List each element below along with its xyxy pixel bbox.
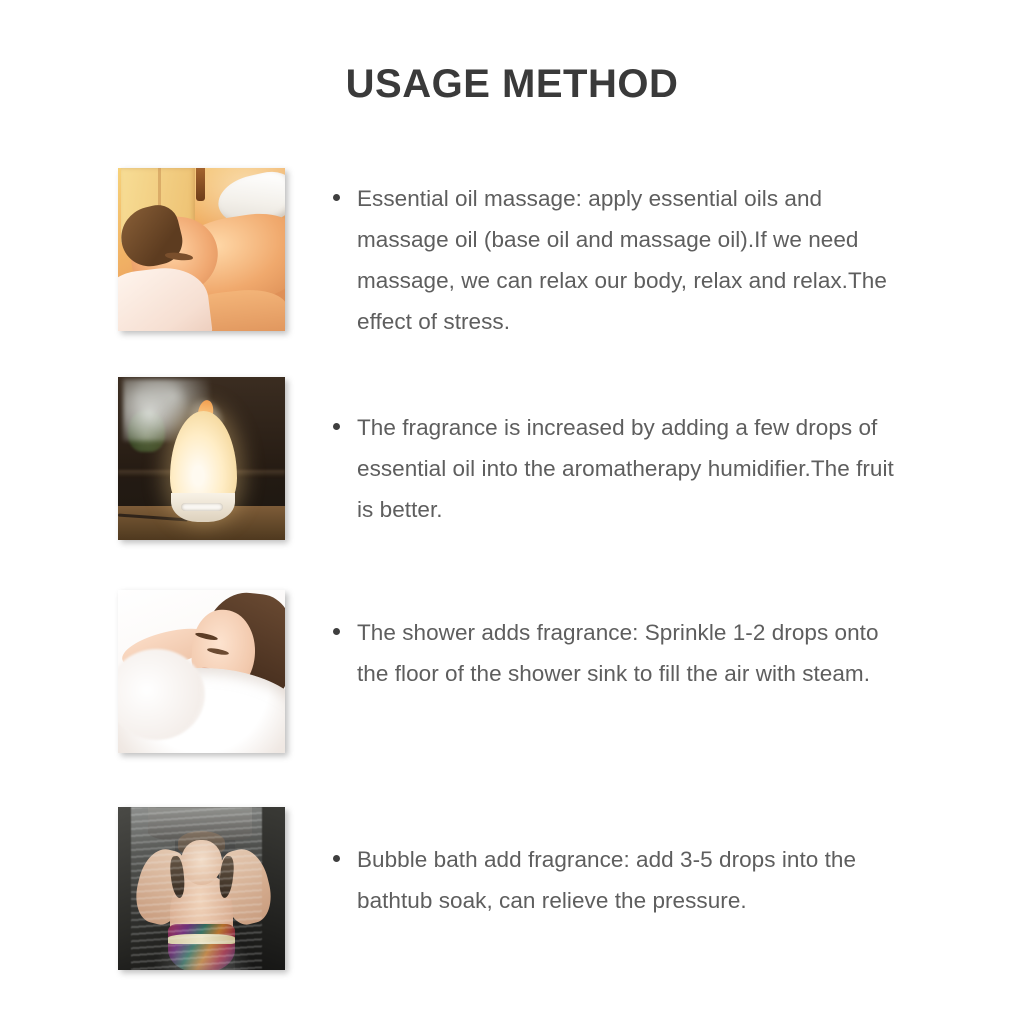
list-item-text: The shower adds fragrance: Sprinkle 1-2 … [357, 620, 879, 686]
list-item-text: Essential oil massage: apply essential o… [357, 186, 887, 334]
usage-step-text-block: Essential oil massage: apply essential o… [330, 178, 905, 342]
bullet-dot-icon [333, 194, 340, 201]
page-title: USAGE METHOD [0, 62, 1024, 107]
massage-photo-art [118, 168, 285, 331]
shower-waterfall-photo [118, 807, 285, 970]
usage-method-page: USAGE METHOD Essential oil massage: appl… [0, 0, 1024, 1024]
bullet-dot-icon [333, 423, 340, 430]
usage-step-text-block: The fragrance is increased by adding a f… [330, 407, 905, 530]
diffuser-photo-art [118, 377, 285, 540]
list-item: The fragrance is increased by adding a f… [330, 407, 905, 530]
list-item-text: The fragrance is increased by adding a f… [357, 415, 894, 522]
list-item: The shower adds fragrance: Sprinkle 1-2 … [330, 612, 905, 694]
bathtub-soak-photo [118, 590, 285, 753]
list-item-text: Bubble bath add fragrance: add 3-5 drops… [357, 847, 856, 913]
bullet-dot-icon [333, 628, 340, 635]
aromatherapy-diffuser-photo [118, 377, 285, 540]
shower-photo-art [118, 807, 285, 970]
massage-oil-bottle [196, 168, 205, 201]
water-spray [151, 924, 255, 970]
essential-oil-massage-photo [118, 168, 285, 331]
diffuser-vent-slot [181, 503, 223, 511]
usage-step-text-block: Bubble bath add fragrance: add 3-5 drops… [330, 839, 905, 921]
bullet-dot-icon [333, 855, 340, 862]
usage-step-text-block: The shower adds fragrance: Sprinkle 1-2 … [330, 612, 905, 694]
list-item: Bubble bath add fragrance: add 3-5 drops… [330, 839, 905, 921]
bath-photo-art [118, 590, 285, 753]
list-item: Essential oil massage: apply essential o… [330, 178, 905, 342]
